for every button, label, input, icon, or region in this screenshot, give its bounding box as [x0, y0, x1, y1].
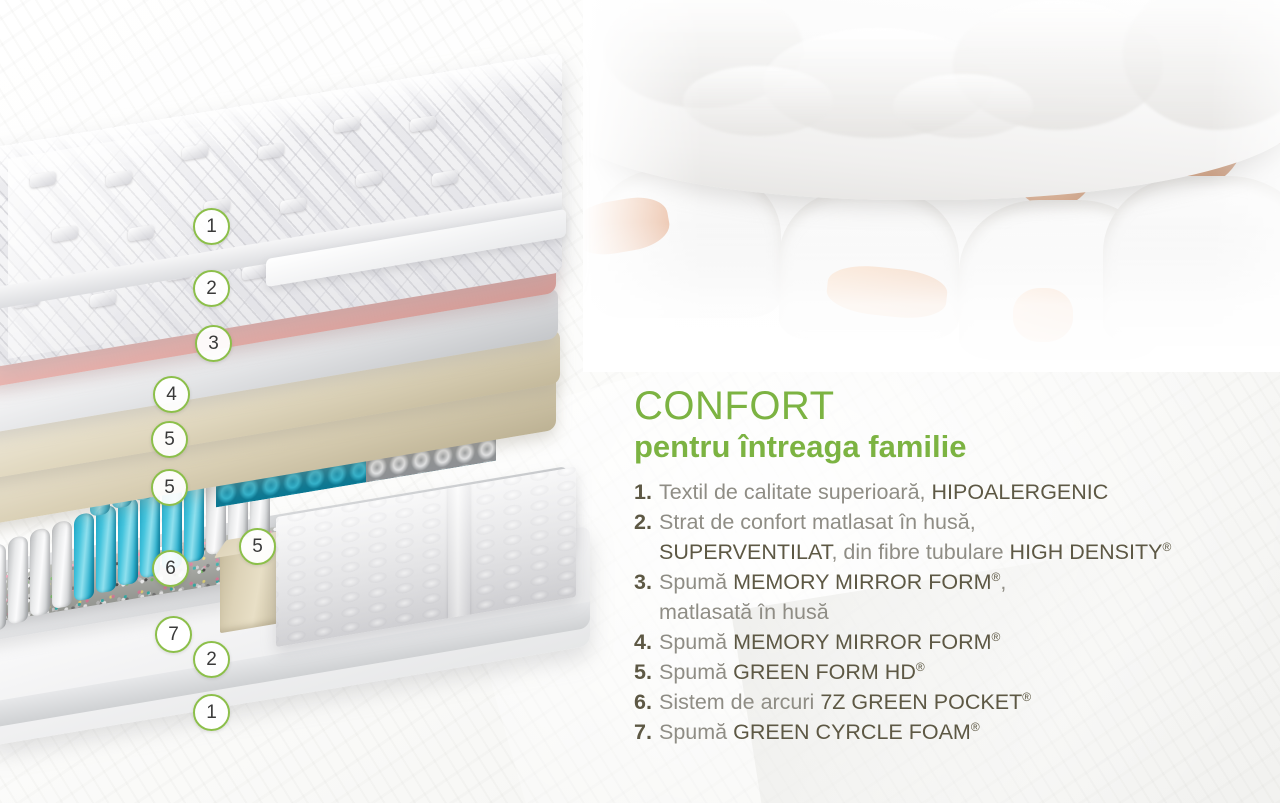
list-item-text: Textil de calitate superioară, HIPOALERG…	[659, 478, 1108, 507]
layer-badge-1-top[interactable]: 1	[193, 208, 230, 245]
layer-badge-7-foam[interactable]: 7	[155, 616, 192, 653]
list-item-continuation: SUPERVENTILAT, din fibre tubulare HIGH D…	[634, 538, 1254, 567]
layer-badge-2-bottom[interactable]: 2	[193, 641, 230, 678]
layer-badge-3[interactable]: 3	[195, 325, 232, 362]
list-item-number: 4.	[634, 628, 659, 657]
mattress-exploded-diagram: 1 2 3 4 5 5 5 6 7 2 1	[0, 40, 620, 800]
list-item-continuation: matlasată în husă	[634, 598, 1254, 627]
list-item-text: Spumă GREEN CYRCLE FOAM®	[659, 718, 980, 747]
list-item: 5. Spumă GREEN FORM HD®	[634, 658, 1254, 687]
list-item: 7. Spumă GREEN CYRCLE FOAM®	[634, 718, 1254, 747]
list-item-number: 2.	[634, 508, 659, 537]
list-item-number: 6.	[634, 688, 659, 717]
page-subtitle: pentru întreaga familie	[634, 430, 1254, 465]
infographic-canvas: 1 2 3 4 5 5 5 6 7 2 1 CONFORT pentru înt…	[0, 0, 1280, 803]
list-item-number: 7.	[634, 718, 659, 747]
list-item-number: 3.	[634, 568, 659, 597]
list-item-text: Spumă GREEN FORM HD®	[659, 658, 925, 687]
list-item-text: Sistem de arcuri 7Z GREEN POCKET®	[659, 688, 1031, 717]
list-item-text: Spumă MEMORY MIRROR FORM®	[659, 628, 1000, 657]
list-item: 3. Spumă MEMORY MIRROR FORM®,	[634, 568, 1254, 597]
list-item-text: Strat de confort matlasat în husă,	[659, 508, 976, 537]
layer-badge-5-edge-block[interactable]: 5	[239, 528, 276, 565]
photo-bottom-fade	[583, 222, 1280, 372]
family-under-duvet-photo	[583, 0, 1280, 372]
list-item: 6. Sistem de arcuri 7Z GREEN POCKET®	[634, 688, 1254, 717]
page-title: CONFORT	[634, 386, 1254, 428]
layer-badge-1-bottom[interactable]: 1	[193, 694, 230, 731]
spec-list: 1. Textil de calitate superioară, HIPOAL…	[634, 478, 1254, 747]
list-item: 2. Strat de confort matlasat în husă,	[634, 508, 1254, 537]
layer-badge-2-top[interactable]: 2	[193, 270, 230, 307]
list-item: 4. Spumă MEMORY MIRROR FORM®	[634, 628, 1254, 657]
layer-badge-6-springs[interactable]: 6	[152, 550, 189, 587]
layer-badge-5-lower[interactable]: 5	[151, 469, 188, 506]
layer-badge-4[interactable]: 4	[153, 376, 190, 413]
list-item-number: 1.	[634, 478, 659, 507]
product-description-panel: CONFORT pentru întreaga familie 1. Texti…	[634, 386, 1254, 748]
layer-badge-5-upper[interactable]: 5	[151, 421, 188, 458]
list-item-number: 5.	[634, 658, 659, 687]
list-item-text: Spumă MEMORY MIRROR FORM®,	[659, 568, 1006, 597]
list-item: 1. Textil de calitate superioară, HIPOAL…	[634, 478, 1254, 507]
